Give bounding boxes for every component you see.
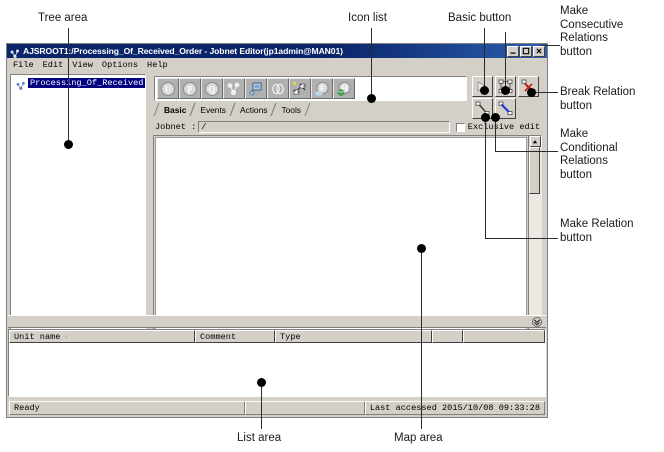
queue-job-icon[interactable]: Q — [201, 78, 223, 99]
title-bar: AJSROOT1:/Processing_Of_Received_Order -… — [7, 44, 547, 58]
close-button[interactable] — [533, 46, 545, 57]
tab-events[interactable]: Events — [190, 103, 233, 116]
basic-button-leader — [484, 28, 485, 90]
make-conditional-relations-annotation-label: Make Conditional Relations button — [560, 128, 660, 182]
menu-item-view[interactable]: View — [72, 60, 93, 70]
jobnet-path-input[interactable]: / — [198, 121, 450, 133]
make-consecutive-relations-annotation-label: Make Consecutive Relations button — [560, 5, 660, 59]
menu-item-options[interactable]: Options — [102, 60, 138, 70]
jobnet-label: Jobnet : — [155, 122, 196, 132]
make-relation-annotation-label: Make Relation button — [560, 218, 664, 245]
maximize-button[interactable] — [520, 46, 532, 57]
jobnet-editor-window: AJSROOT1:/Processing_Of_Received_Order -… — [6, 43, 548, 418]
icon-list[interactable]: U P Q — [154, 76, 467, 101]
column-header-comment[interactable]: Comment — [195, 330, 275, 343]
column-label: Unit name — [14, 332, 60, 342]
list-area-annotation-label: List area — [237, 432, 281, 446]
svg-text:Q: Q — [208, 84, 215, 94]
tree-area-leader — [68, 28, 69, 145]
status-middle — [245, 401, 365, 415]
sort-ascending-icon: ▵ — [64, 333, 68, 340]
status-bar: Ready Last accessed 2015/10/08 09:33:28 — [9, 401, 545, 415]
status-last-accessed: Last accessed 2015/10/08 09:33:28 — [365, 401, 545, 415]
basic-button-leader-dot — [480, 86, 489, 95]
scroll-thumb-vertical[interactable] — [529, 147, 540, 194]
make-conditional-leader-h — [495, 151, 558, 152]
unix-job-icon[interactable]: U — [157, 78, 179, 99]
jobnet-app-icon — [10, 46, 20, 56]
list-rows[interactable] — [9, 343, 545, 396]
svg-text:U: U — [165, 84, 172, 94]
relation-button-cluster — [472, 75, 542, 119]
menu-item-edit[interactable]: Edit — [43, 60, 64, 70]
exclusive-edit-checkbox[interactable]: Exclusive edit — [456, 122, 540, 132]
column-header-unit-name[interactable]: Unit name ▵ — [9, 330, 195, 343]
jobnet-node-icon — [16, 78, 26, 88]
window-title: AJSROOT1:/Processing_Of_Received_Order -… — [23, 46, 507, 56]
tree-area-leader-dot — [64, 140, 73, 149]
or-condition-icon[interactable] — [267, 78, 289, 99]
make-conditional-leader-v — [495, 118, 496, 151]
jobnet-icon[interactable] — [223, 78, 245, 99]
window-controls — [507, 46, 546, 57]
icon-list-leader — [371, 28, 372, 98]
menu-bar: File Edit View Options Help — [7, 58, 547, 72]
tab-actions[interactable]: Actions — [230, 103, 274, 116]
make-relation-leader-dot — [481, 113, 490, 122]
make-consecutive-leader-v2 — [505, 32, 506, 90]
tab-tools[interactable]: Tools — [271, 103, 308, 116]
checkbox-box[interactable] — [456, 123, 465, 132]
break-relation-annotation-label: Break Relation button — [560, 86, 664, 113]
map-area-leader — [421, 251, 422, 429]
scroll-up-icon[interactable] — [530, 136, 541, 147]
action-job-icon[interactable]: H — [333, 78, 355, 99]
list-area-leader — [261, 385, 262, 429]
minimize-button[interactable] — [507, 46, 519, 57]
pane-divider[interactable] — [8, 315, 546, 328]
make-relation-leader-v — [485, 118, 486, 238]
tree-area-annotation-label: Tree area — [38, 12, 87, 26]
tab-strip: Basic Events Actions Tools — [154, 102, 305, 116]
make-relation-leader-h — [485, 238, 558, 239]
make-consecutive-leader-dot — [501, 86, 510, 95]
icon-list-annotation-label: Icon list — [348, 12, 387, 26]
list-area-leader-dot — [257, 378, 266, 387]
column-header-type[interactable]: Type — [275, 330, 432, 343]
pc-job-icon[interactable]: P — [179, 78, 201, 99]
event-job-icon[interactable]: F — [311, 78, 333, 99]
tree-node-label[interactable]: Processing_Of_Received — [28, 78, 145, 88]
svg-text:P: P — [187, 84, 193, 94]
judgment-job-icon[interactable] — [289, 78, 311, 99]
map-area-leader-dot — [417, 244, 426, 253]
make-conditional-leader-dot — [491, 113, 500, 122]
make-consecutive-leader-h — [540, 45, 560, 46]
collapse-pane-icon[interactable] — [532, 317, 542, 327]
exclusive-edit-label: Exclusive edit — [468, 122, 540, 132]
list-area[interactable]: Unit name ▵ Comment Type — [8, 329, 546, 397]
menu-item-help[interactable]: Help — [147, 60, 168, 70]
status-message: Ready — [9, 401, 245, 415]
tree-node[interactable]: Processing_Of_Received — [11, 77, 145, 89]
basic-button-annotation-label: Basic button — [448, 12, 511, 26]
column-header-extra-2[interactable] — [463, 330, 545, 343]
map-area-annotation-label: Map area — [394, 432, 443, 446]
column-header-extra-1[interactable] — [432, 330, 463, 343]
icon-list-leader-dot — [367, 94, 376, 103]
list-header: Unit name ▵ Comment Type — [9, 330, 545, 343]
tab-basic[interactable]: Basic — [154, 103, 193, 116]
job-group-icon[interactable] — [245, 78, 267, 99]
menu-item-file[interactable]: File — [13, 60, 34, 70]
break-relation-leader-dot — [527, 88, 536, 97]
